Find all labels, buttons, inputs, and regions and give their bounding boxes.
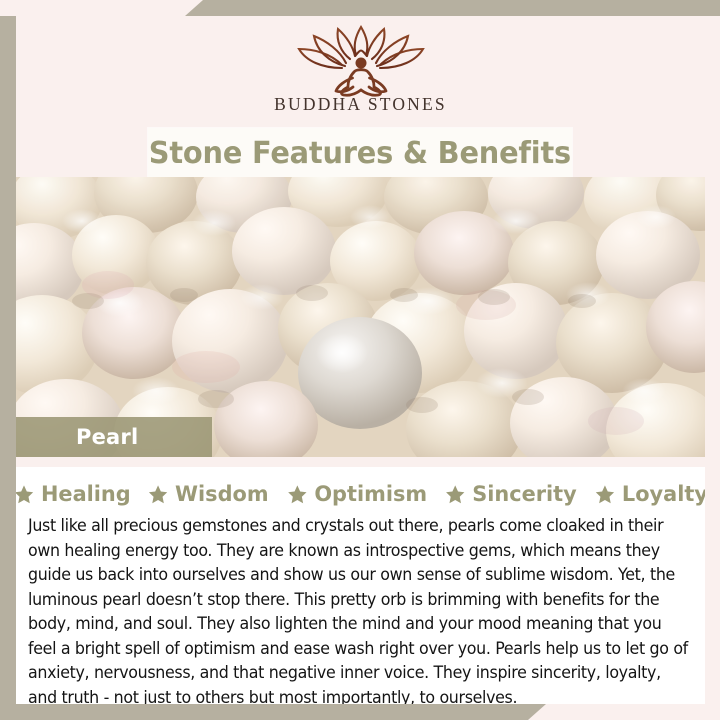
star-icon [148, 484, 168, 505]
benefit-tag-label: Wisdom [175, 482, 269, 507]
stone-name-band: Pearl [16, 417, 212, 457]
star-icon [287, 484, 307, 505]
benefit-tag: Wisdom [141, 482, 275, 507]
description-text: Just like all precious gemstones and cry… [28, 514, 693, 704]
content-card: BUDDHA STONES Stone Features & Benefits [16, 16, 705, 704]
stone-features-infographic: BUDDHA STONES Stone Features & Benefits [0, 0, 720, 720]
benefit-tag-label: Healing [41, 482, 131, 507]
benefit-tag-label: Sincerity [472, 482, 577, 507]
benefit-tag: Sincerity [438, 482, 583, 507]
frame-bar-left [0, 16, 16, 706]
benefit-tag: Loyalty [588, 482, 705, 507]
frame-bar-bottom [0, 704, 546, 720]
star-icon [16, 484, 34, 505]
lotus-meditation-figure-icon [286, 20, 436, 98]
brand-logo: BUDDHA STONES [16, 20, 705, 130]
brand-name: BUDDHA STONES [274, 94, 447, 115]
benefit-tag-label: Optimism [314, 482, 427, 507]
frame-bar-top [185, 0, 720, 16]
description-section: Healing Wisdom Optimism [16, 457, 705, 704]
page-title: Stone Features & Benefits [149, 136, 571, 171]
stone-name: Pearl [76, 425, 138, 449]
benefit-tag: Optimism [280, 482, 434, 507]
star-icon [594, 484, 614, 505]
stone-photo: Pearl [16, 177, 705, 457]
page-title-banner: Stone Features & Benefits [148, 128, 572, 178]
star-icon [445, 484, 465, 505]
benefit-tag: Healing [16, 482, 137, 507]
frame-corner-top-right [704, 0, 720, 16]
benefit-tag-label: Loyalty [622, 482, 705, 507]
benefit-tag-list: Healing Wisdom Optimism [16, 467, 705, 509]
